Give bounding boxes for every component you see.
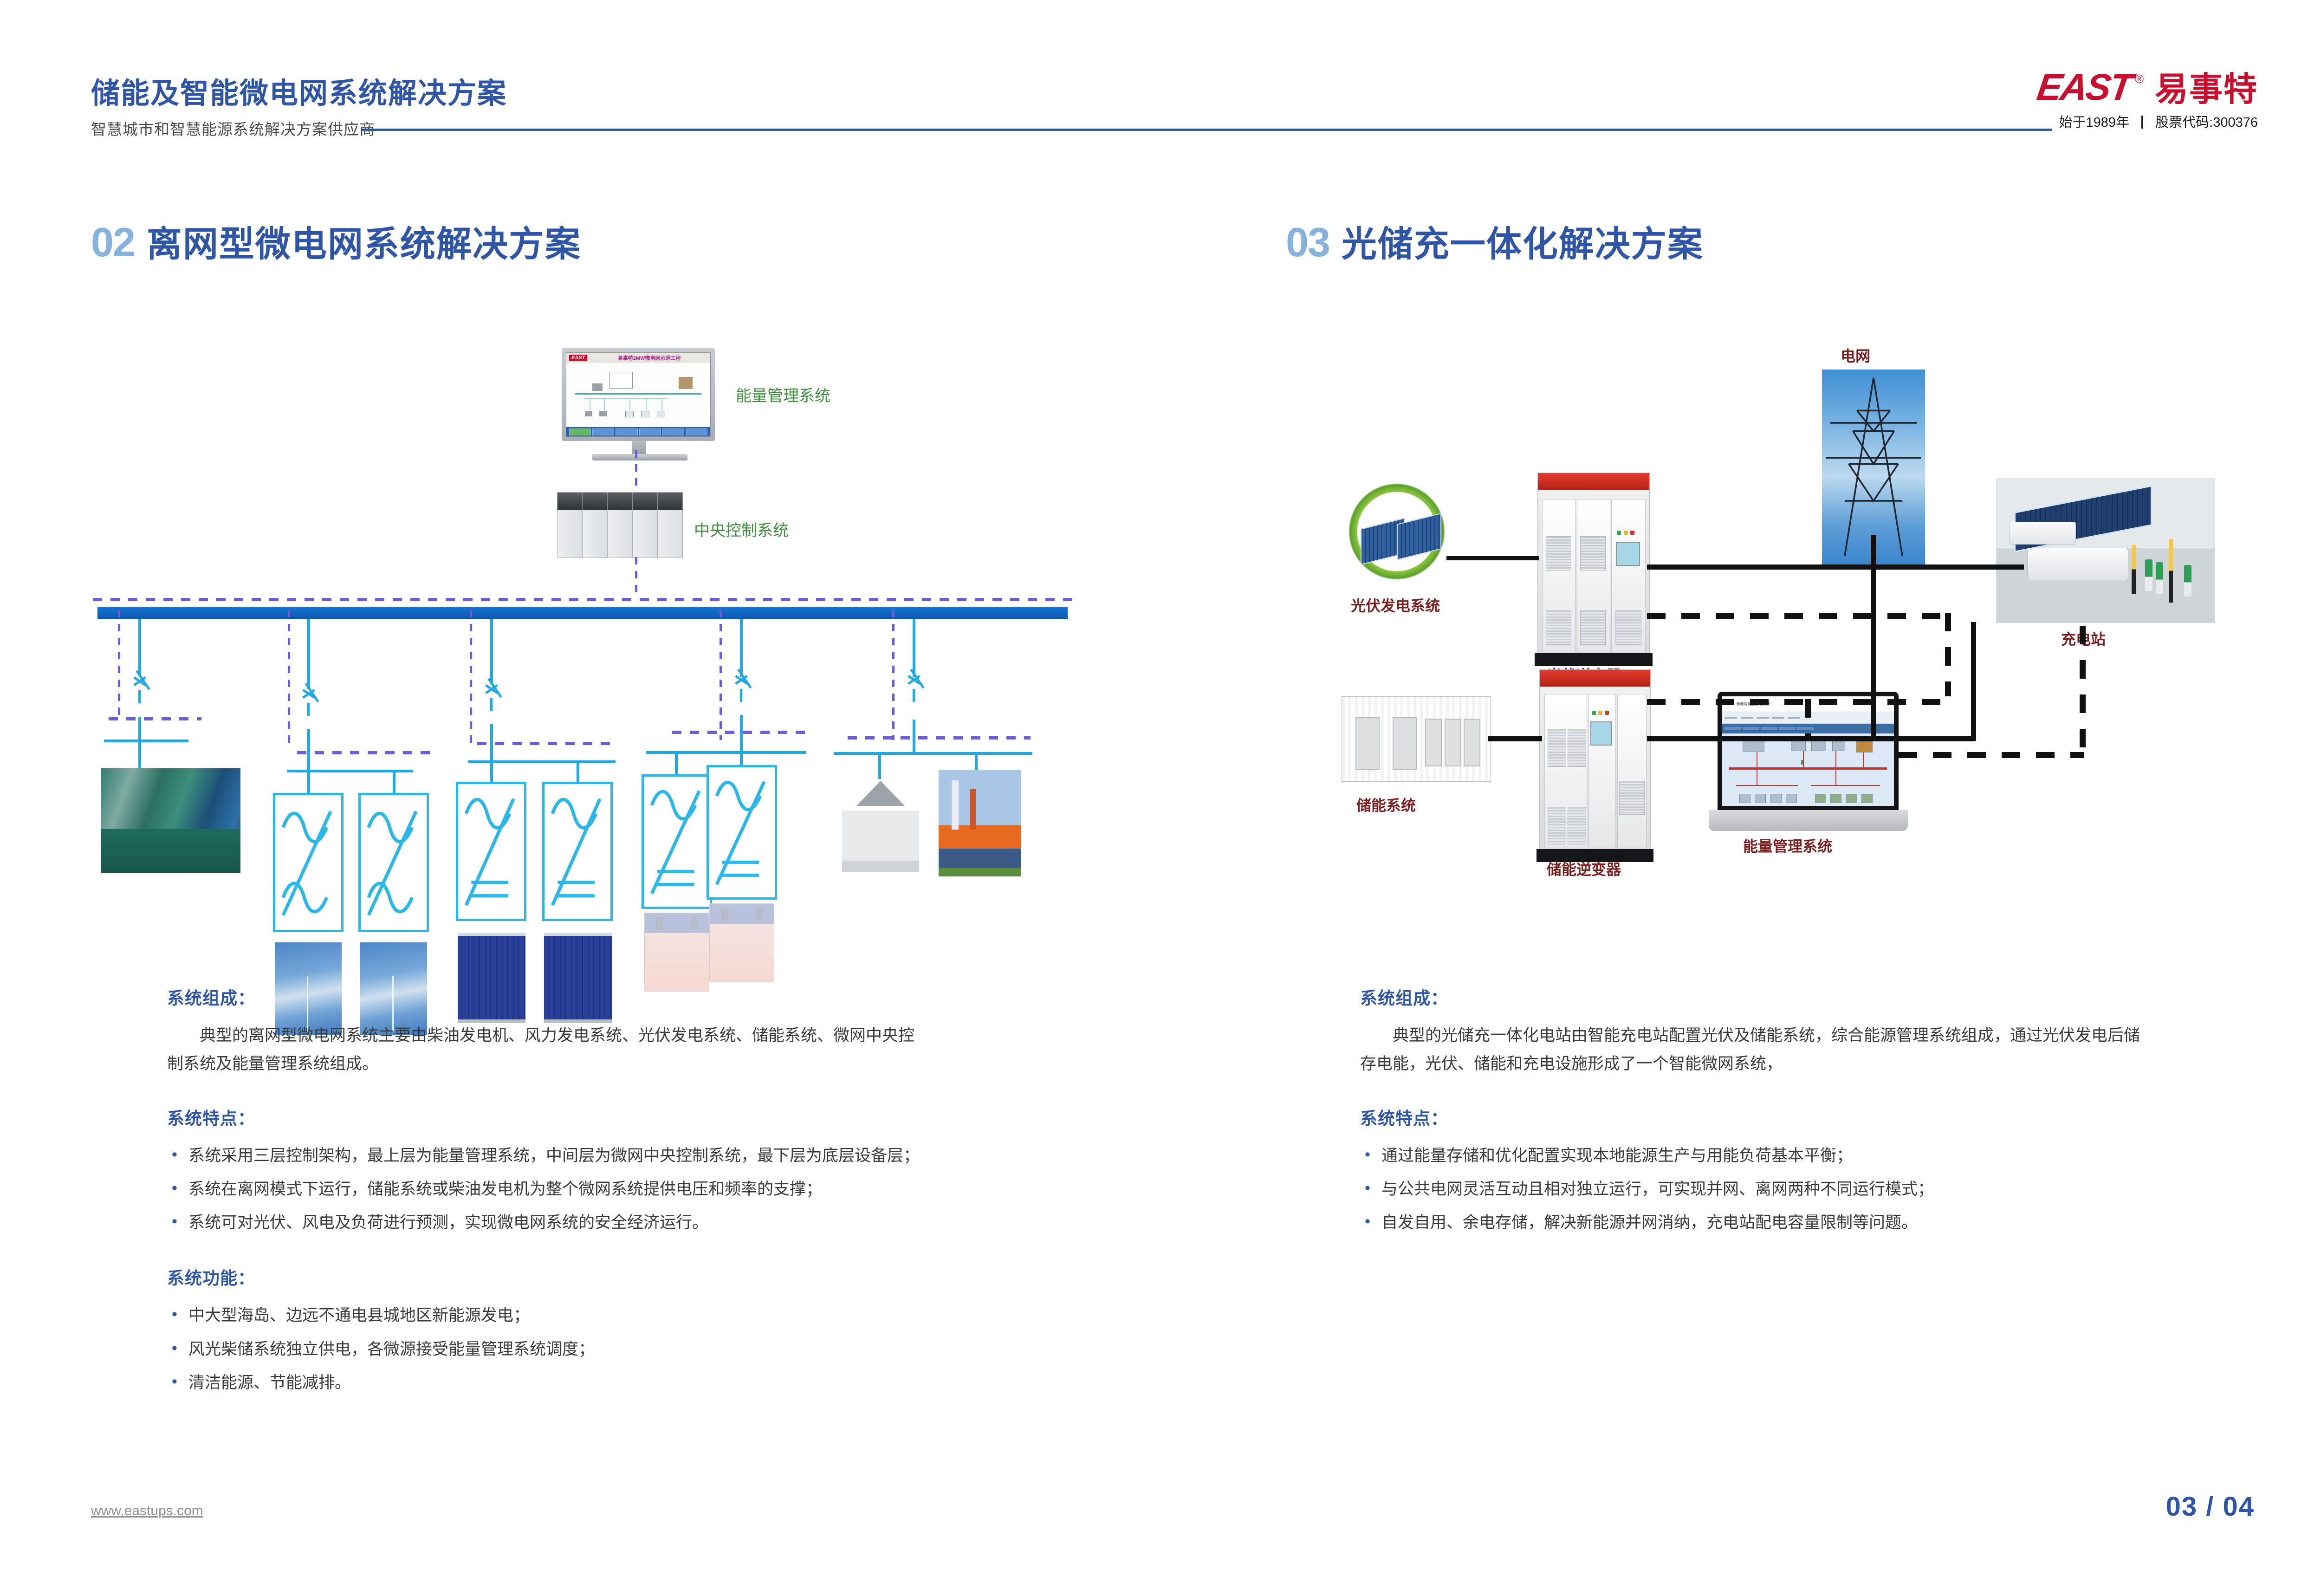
paragraph-composition-left: 典型的离网型微电网系统主要由柴油发电机、风力发电系统、光伏发电系统、储能系统、微… (167, 1021, 928, 1078)
wire-bus-to-charging (1971, 622, 1976, 741)
list-item: 清洁能源、节能减排。 (167, 1369, 928, 1397)
comm-line-down-1 (1945, 613, 1951, 696)
comm-line-ess-inverter (1647, 699, 1948, 705)
central-controller-image (557, 492, 683, 558)
content-column-left: 系统组成： 典型的离网型微电网系统主要由柴油发电机、风力发电系统、光伏发电系统、… (167, 984, 928, 1424)
logo-east-text: EAST (2035, 70, 2133, 105)
heading-composition-right: 系统组成： (1360, 984, 2149, 1009)
label-ems: 能量管理系统 (736, 383, 830, 406)
page-subtitle: 智慧城市和智慧能源系统解决方案供应商 (91, 117, 375, 139)
monitor-sld (566, 363, 710, 426)
list-functions-left: 中大型海岛、边远不通电县城地区新能源发电； 风光柴储系统独立供电，各微源接受能量… (167, 1301, 928, 1397)
list-features-left: 系统采用三层控制架构，最上层为能量管理系统，中间层为微网中央控制系统，最下层为底… (167, 1142, 928, 1238)
stock-code: 股票代码:300376 (2155, 115, 2258, 130)
residential-load-image (842, 779, 919, 872)
battery-image-1 (644, 913, 709, 992)
battery-image-2 (709, 903, 774, 982)
charging-station-image (1996, 478, 2215, 623)
battery-converter-1 (642, 774, 712, 909)
section-heading-03: 03 光储充一体化解决方案 (1286, 222, 1704, 263)
section-title-03: 光储充一体化解决方案 (1342, 227, 1704, 262)
logo-tagline: 始于1989年 股票代码:300376 (2007, 111, 2258, 131)
founded-year: 始于1989年 (2059, 115, 2130, 130)
heading-features-left: 系统特点： (167, 1104, 928, 1129)
comm-line-pv-inverter (1647, 613, 1950, 619)
list-item: 风光柴储系统独立供电，各微源接受能量管理系统调度； (167, 1335, 928, 1364)
pv-converter-1 (456, 782, 526, 921)
section-title-02: 离网型微电网系统解决方案 (147, 227, 581, 262)
battery-converter-2 (707, 765, 777, 900)
footer-website-link[interactable]: www.eastups.com (91, 1503, 203, 1519)
diesel-generator-image (101, 768, 240, 873)
wire-grid-vertical (1871, 564, 1876, 737)
content-column-right: 系统组成： 典型的光储充一体化电站由智能充电站配置光伏及储能系统，综合能源管理系… (1360, 984, 2149, 1264)
list-item: 系统在离网模式下运行，储能系统或柴油发电机为整个微网系统提供电压和频率的支撑； (167, 1175, 928, 1204)
ems-monitor-image: EAST 易事特2MW微电网示范工程 (562, 348, 715, 441)
industrial-load-image (939, 770, 1021, 876)
page-root: 储能及智能微电网系统解决方案 智慧城市和智慧能源系统解决方案供应商 EAST ®… (0, 0, 2321, 1596)
section-heading-02: 02 离网型微电网系统解决方案 (91, 222, 581, 263)
paragraph-composition-right: 典型的光储充一体化电站由智能充电站配置光伏及储能系统，综合能源管理系统组成，通过… (1360, 1021, 2149, 1078)
comm-line-to-laptop (1805, 699, 1811, 738)
section-number-02: 02 (91, 222, 135, 263)
label-pv-generation: 光伏发电系统 (1351, 594, 1440, 616)
list-item: 通过能量存储和优化配置实现本地能源生产与用能负荷基本平衡； (1360, 1142, 2149, 1170)
heading-features-right: 系统特点： (1360, 1104, 2149, 1129)
pv-storage-charging-diagram: 电网 光伏发电系统 (1337, 325, 2284, 919)
energy-storage-system-image (1342, 696, 1491, 782)
registered-icon: ® (2135, 72, 2144, 86)
heading-functions-left: 系统功能： (167, 1264, 928, 1289)
logo-chinese-text: 易事特 (2155, 73, 2258, 105)
label-ess: 储能系统 (1356, 794, 1416, 815)
label-ess-inverter: 储能逆变器 (1547, 858, 1621, 879)
section-number-03: 03 (1286, 222, 1329, 263)
wire-pv-to-inverter (1446, 556, 1539, 560)
page-title: 储能及智能微电网系统解决方案 (91, 70, 507, 111)
list-item: 中大型海岛、边远不通电县城地区新能源发电； (167, 1301, 928, 1330)
pv-inverter-image (1537, 473, 1650, 659)
label-ems-right: 能量管理系统 (1743, 835, 1832, 856)
comm-line-laptop-right (1899, 752, 2084, 758)
header-rule (362, 129, 2052, 131)
page-number: 03 / 04 (2166, 1491, 2255, 1522)
list-item: 系统采用三层控制架构，最上层为能量管理系统，中间层为微网中央控制系统，最下层为底… (167, 1142, 928, 1170)
offgrid-microgrid-diagram: EAST 易事特2MW微电网示范工程 (93, 325, 1077, 919)
label-grid: 电网 (1841, 344, 1870, 366)
divider-icon (2141, 116, 2143, 129)
list-item: 自发自用、余电存储，解决新能源并网消纳，充电站配电容量限制等问题。 (1360, 1208, 2149, 1237)
wind-converter-2 (358, 793, 429, 932)
company-logo: EAST ® 易事特 始于1989年 股票代码:300376 (2007, 60, 2258, 131)
comm-line-charging (2080, 626, 2086, 758)
list-item: 与公共电网灵活互动且相对独立运行，可实现并网、离网两种不同运行模式； (1360, 1175, 2149, 1204)
list-features-right: 通过能量存储和优化配置实现本地能源生产与用能负荷基本平衡； 与公共电网灵活互动且… (1360, 1142, 2149, 1238)
wind-converter-1 (273, 793, 344, 932)
heading-composition-left: 系统组成： (167, 984, 928, 1009)
pv-converter-2 (542, 782, 613, 921)
monitor-logo: EAST (569, 355, 587, 361)
list-item: 系统可对光伏、风电及负荷进行预测，实现微电网系统的安全经济运行。 (167, 1208, 928, 1237)
label-central-control: 中央控制系统 (694, 518, 789, 540)
pv-generation-image (1343, 478, 1450, 585)
wire-inverter-to-grid-bus (1647, 564, 2024, 570)
monitor-caption: 易事特2MW微电网示范工程 (591, 354, 707, 362)
wire-ess-to-inverter (1488, 736, 1542, 741)
ess-inverter-image (1539, 669, 1651, 855)
